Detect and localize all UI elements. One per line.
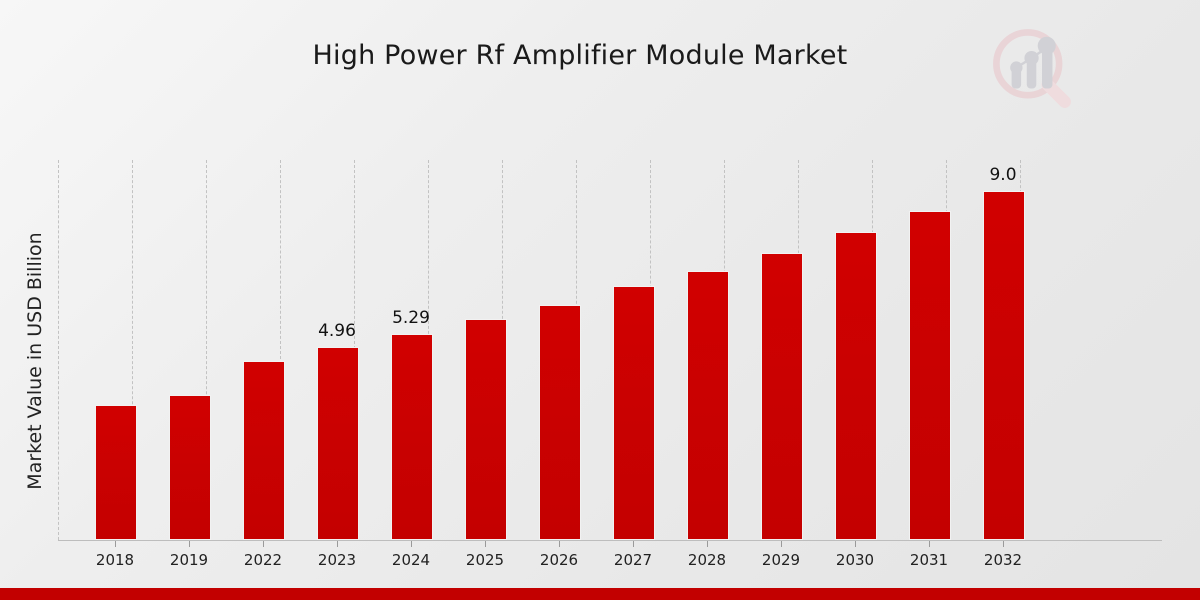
bar-group[interactable] [818, 160, 892, 540]
plot-area: 4.965.299.0 [58, 160, 1162, 540]
x-tick-mark [707, 541, 708, 547]
x-tick-label: 2026 [522, 551, 596, 569]
x-tick-mark [337, 541, 338, 547]
bar-group[interactable] [522, 160, 596, 540]
bar[interactable] [983, 191, 1025, 540]
bar-value-label: 4.96 [300, 321, 374, 341]
x-tick-mark [189, 541, 190, 547]
bar[interactable] [909, 211, 951, 540]
bar-group[interactable]: 4.96 [300, 160, 374, 540]
y-axis-label: Market Value in USD Billion [24, 161, 46, 561]
x-tick-label: 2022 [226, 551, 300, 569]
bar[interactable] [243, 361, 285, 540]
bar-group[interactable] [226, 160, 300, 540]
x-tick-mark [781, 541, 782, 547]
bar-group[interactable] [78, 160, 152, 540]
x-tick-mark [855, 541, 856, 547]
x-tick-label: 2032 [966, 551, 1040, 569]
x-tick-label: 2030 [818, 551, 892, 569]
bar-group[interactable] [448, 160, 522, 540]
bar[interactable] [539, 305, 581, 540]
bar-group[interactable] [744, 160, 818, 540]
x-tick-label: 2025 [448, 551, 522, 569]
x-tick-mark [485, 541, 486, 547]
x-tick-label: 2023 [300, 551, 374, 569]
bar[interactable] [465, 319, 507, 540]
x-axis-line [58, 540, 1162, 541]
bar[interactable] [95, 405, 137, 540]
bar-value-label: 5.29 [374, 308, 448, 328]
bar[interactable] [169, 395, 211, 540]
chart-container: High Power Rf Amplifier Module Market Ma… [0, 0, 1200, 600]
bar-group[interactable] [670, 160, 744, 540]
x-tick-label: 2018 [78, 551, 152, 569]
bar-group[interactable]: 5.29 [374, 160, 448, 540]
x-tick-label: 2019 [152, 551, 226, 569]
bar-value-label: 9.0 [966, 165, 1040, 185]
x-tick-mark [559, 541, 560, 547]
x-tick-label: 2029 [744, 551, 818, 569]
x-tick-label: 2031 [892, 551, 966, 569]
x-tick-label: 2027 [596, 551, 670, 569]
bar-group[interactable]: 9.0 [966, 160, 1040, 540]
bar[interactable] [317, 347, 359, 540]
bar[interactable] [835, 232, 877, 540]
bar-group[interactable] [152, 160, 226, 540]
bar[interactable] [613, 286, 655, 540]
footer-band [0, 588, 1200, 600]
bar[interactable] [391, 334, 433, 540]
bar-group[interactable] [892, 160, 966, 540]
x-tick-mark [411, 541, 412, 547]
bar-group[interactable] [596, 160, 670, 540]
x-tick-mark [633, 541, 634, 547]
x-tick-label: 2028 [670, 551, 744, 569]
bar[interactable] [761, 253, 803, 540]
bar-series: 4.965.299.0 [58, 160, 1162, 540]
x-tick-mark [263, 541, 264, 547]
x-tick-mark [929, 541, 930, 547]
page-title: High Power Rf Amplifier Module Market [0, 40, 1160, 71]
x-tick-mark [1003, 541, 1004, 547]
bar[interactable] [687, 271, 729, 540]
x-tick-mark [115, 541, 116, 547]
x-tick-label: 2024 [374, 551, 448, 569]
